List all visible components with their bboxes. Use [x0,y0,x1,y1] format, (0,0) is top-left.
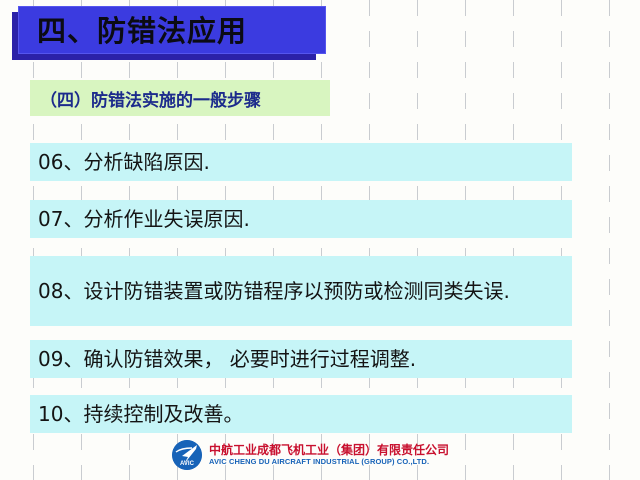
logo-abbr-text: AVIC [180,461,195,467]
step-row: 09、确认防错效果， 必要时进行过程调整. [30,340,572,378]
slide-title-block: 四、防错法应用 [12,4,326,56]
section-subheading: （四）防错法实施的一般步骤 [30,80,330,116]
step-row: 06、分析缺陷原因. [30,143,572,181]
step-row: 10、持续控制及改善。 [30,395,572,433]
slide-canvas: 四、防错法应用 （四）防错法实施的一般步骤 06、分析缺陷原因. 07、分析作业… [0,0,640,480]
title-banner: 四、防错法应用 [18,6,326,54]
page-title: 四、防错法应用 [37,8,247,50]
grid-line [609,0,610,480]
company-name-cn: 中航工业成都飞机工业（集团）有限责任公司 [209,443,449,457]
step-row: 07、分析作业失误原因. [30,200,572,238]
company-name-en: AVIC CHENG DU AIRCRAFT INDUSTRIAL (GROUP… [209,457,449,467]
footer-company-names: 中航工业成都飞机工业（集团）有限责任公司 AVIC CHENG DU AIRCR… [209,443,449,467]
section-subheading-label: （四）防错法实施的一般步骤 [30,86,261,111]
step-label: 10、持续控制及改善。 [30,399,249,430]
step-label: 09、确认防错效果， 必要时进行过程调整. [30,344,422,375]
step-label: 07、分析作业失误原因. [30,204,256,235]
step-label: 08、设计防错装置或防错程序以预防或检测同类失误. [30,275,516,308]
avic-swoosh-icon: AVIC [172,440,202,470]
step-row: 08、设计防错装置或防错程序以预防或检测同类失误. [30,256,572,326]
footer-logo: AVIC 中航工业成都飞机工业（集团）有限责任公司 AVIC CHENG DU … [172,440,449,470]
step-label: 06、分析缺陷原因. [30,147,216,178]
